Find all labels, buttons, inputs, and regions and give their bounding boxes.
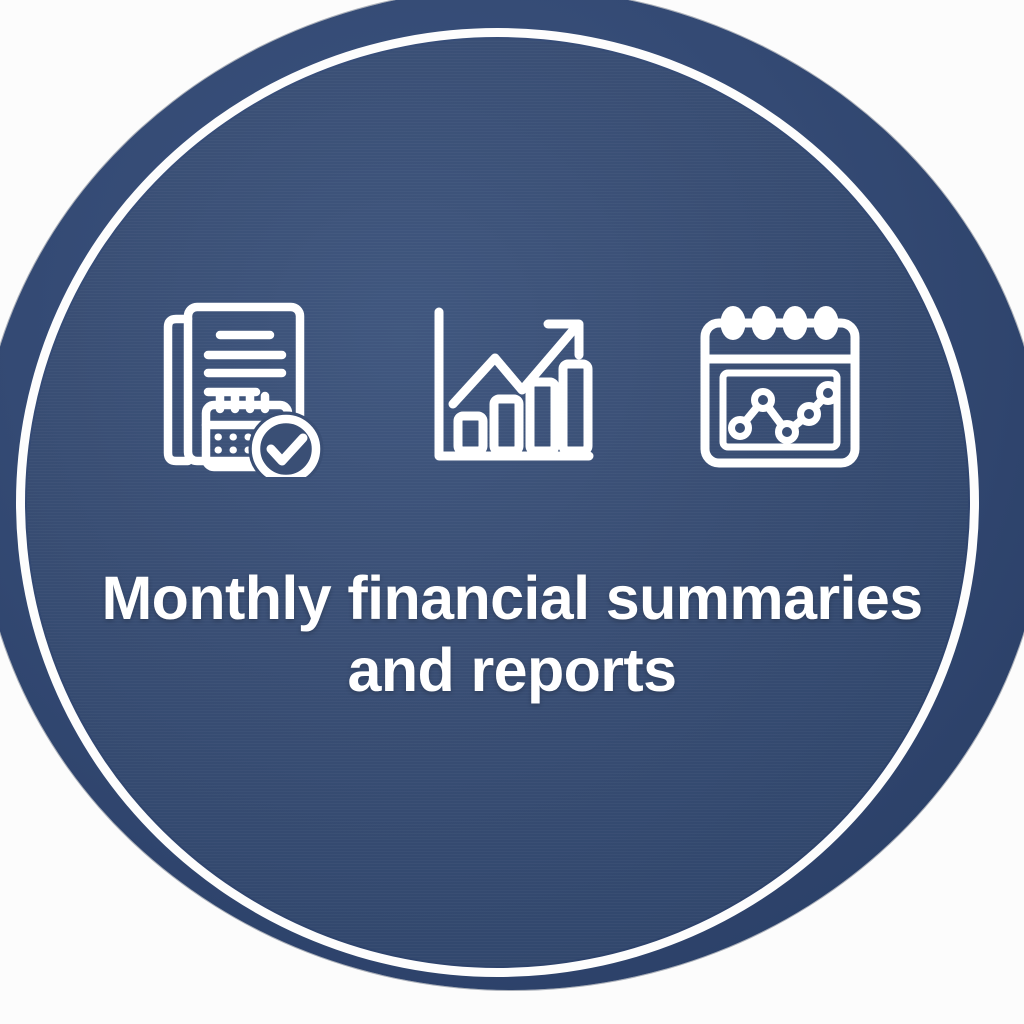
icon-row bbox=[0, 292, 1024, 482]
white-ring bbox=[16, 28, 979, 977]
icon-slot-document bbox=[154, 292, 334, 482]
bar-chart-growth-icon bbox=[427, 306, 597, 468]
calendar-line-chart-icon bbox=[695, 301, 865, 473]
badge-canvas: Monthly financial summaries and reports bbox=[0, 0, 1024, 1024]
badge-caption: Monthly financial summaries and reports bbox=[82, 562, 942, 706]
icon-slot-calendar-chart bbox=[690, 292, 870, 482]
document-calendar-check-icon bbox=[158, 297, 330, 477]
caption-line-1: Monthly financial summaries bbox=[82, 562, 942, 634]
caption-line-2: and reports bbox=[82, 634, 942, 706]
icon-slot-bar-chart bbox=[422, 292, 602, 482]
